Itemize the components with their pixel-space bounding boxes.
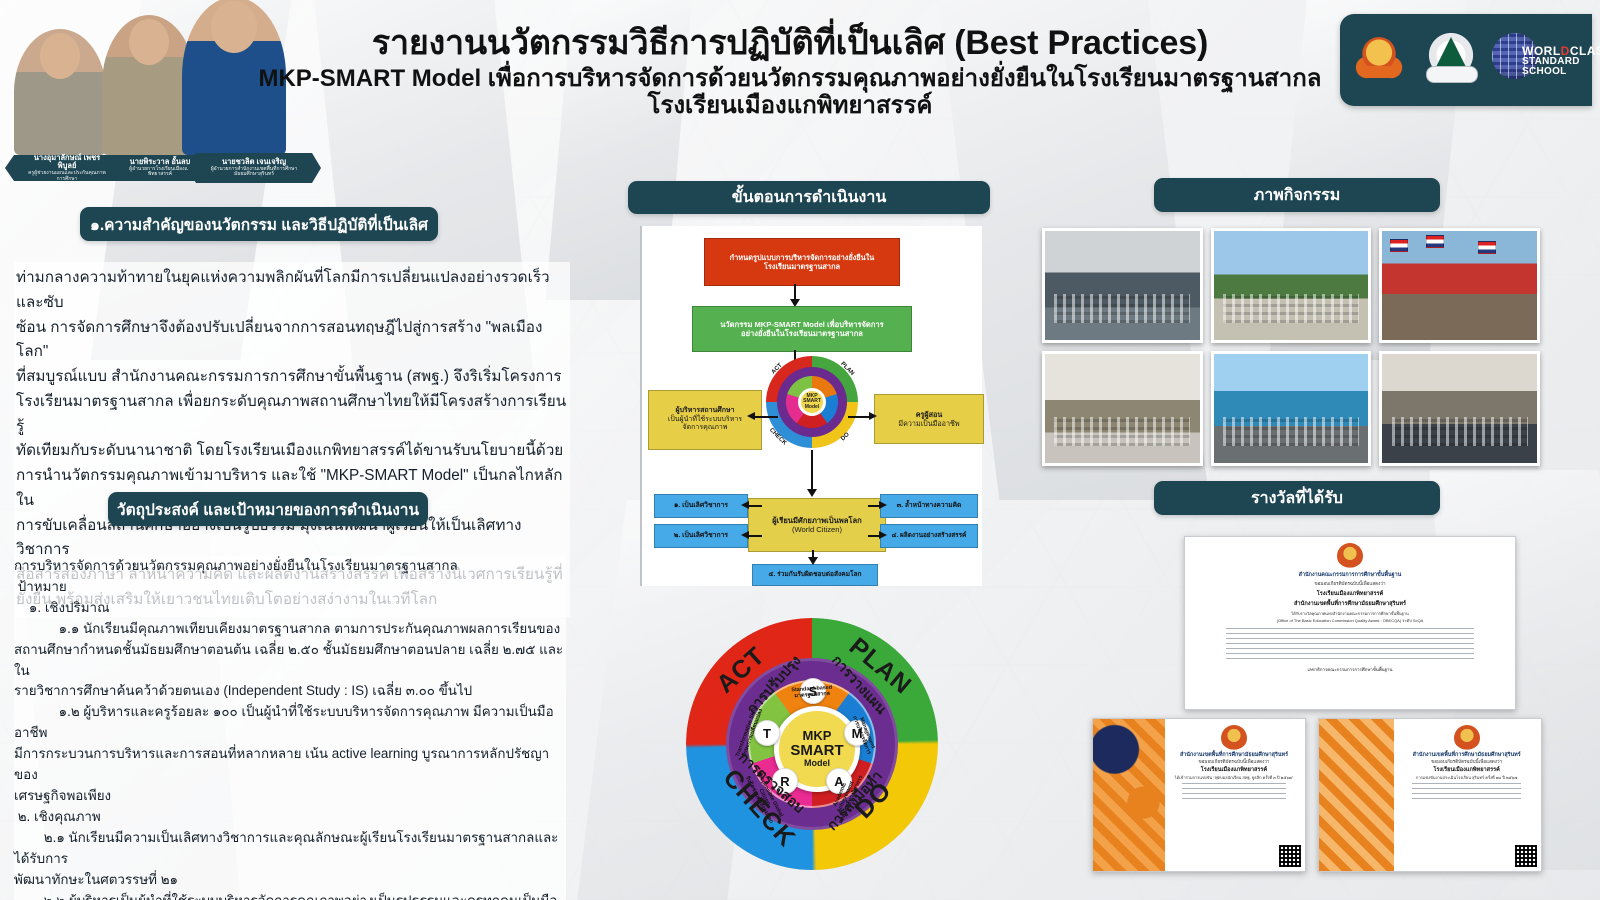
title-line-3: โรงเรียนเมืองแกพิทยาสรรค์	[250, 93, 1330, 120]
box-detail: มีความเป็นมืออาชีพ	[898, 419, 959, 428]
flow-arrow-out-2	[748, 535, 762, 537]
portrait-role: ผู้อำนวยการโรงเรียนเมืองแกพิทยาสรรค์	[124, 167, 196, 179]
photo-crowd-texture	[1223, 417, 1359, 445]
logo-bar: WORLDCLASS STANDARD SCHOOL	[1340, 14, 1592, 106]
flow-box-teacher: ครูผู้สอน มีความเป็นมืออาชีพ	[874, 394, 984, 444]
thai-flag-icon	[1390, 239, 1408, 252]
activity-photo-grid	[1042, 228, 1540, 466]
title-line-1: รายงานนวัตกรรมวิธีการปฏิบัติที่เป็นเลิศ …	[250, 24, 1330, 62]
flow-outcome-4: ๔. ผลิตงานอย่างสร้างสรรค์	[880, 524, 978, 548]
flow-arrow-out-1	[748, 505, 762, 507]
box-title: ผู้บริหารสถานศึกษา	[675, 407, 734, 416]
flow-outcome-5: ๕. ร่วมกันรับผิดชอบต่อสังคมโลก	[752, 564, 878, 586]
poster-root: รายงานนวัตกรรมวิธีการปฏิบัติที่เป็นเลิศ …	[0, 0, 1600, 900]
core-model: Model	[805, 405, 819, 410]
qr-code-icon	[1279, 845, 1301, 867]
certificate-detail: ได้รับรางวัลคุณภาพแห่งสำนักงานคณะกรรมการ…	[1277, 610, 1424, 624]
flow-outcome-1: ๑. เป็นเลิศวิชาการ	[654, 494, 748, 518]
certificate-school: โรงเรียนเมืองแกพิทยาสรรค์	[1433, 766, 1499, 774]
section-2-heading: วัตถุประสงค์ และเป้าหมายของการดำเนินงาน	[108, 492, 428, 526]
certificate-org: สำนักงานเขตพื้นที่การศึกษามัธยมศึกษาสุริ…	[1180, 751, 1288, 759]
flow-box-define-model: กำหนดรูปแบบการบริหารจัดการอย่างยั่งยืนใน…	[704, 238, 900, 286]
photo-crowd-texture	[1054, 417, 1190, 445]
world-class-wordmark: WORLDCLASS STANDARD SCHOOL	[1522, 45, 1600, 77]
certificate-content: สำนักงานคณะกรรมการการศึกษาขั้นพื้นฐาน ขอ…	[1191, 543, 1509, 703]
flow-arrow-down-1	[794, 284, 796, 300]
box-detail: (World Citizen)	[792, 525, 842, 534]
section-1-heading: ๑.ความสำคัญของนวัตกรรม และวิธีปฏิบัติที่…	[80, 207, 438, 241]
section-2-body: การบริหารจัดการด้วยนวัตกรรมคุณภาพอย่างยั…	[14, 556, 566, 900]
core-model: Model	[804, 759, 830, 769]
garuda-emblem-icon	[1221, 725, 1247, 751]
portrait-head	[129, 19, 169, 65]
flow-box-mkp-smart-model: นวัตกรรม MKP-SMART Model เพื่อบริหารจัดก…	[692, 306, 912, 352]
certificate-school: โรงเรียนเมืองแกพิทยาสรรค์	[1317, 590, 1383, 598]
photo-assembly-antidrug	[1042, 228, 1203, 343]
portrait-1	[14, 29, 106, 155]
certificate-award-line: ขอมอบเกียรติบัตรฉบับนี้เพื่อแสดงว่า	[1314, 581, 1385, 588]
certificate-detail: ได้เข้าร่วมการแข่งขัน "ฟุตบอลนักเรียน สพ…	[1175, 774, 1294, 781]
poster-title: รายงานนวัตกรรมวิธีการปฏิบัติที่เป็นเลิศ …	[250, 24, 1330, 120]
flow-arrow-out-4	[868, 535, 880, 537]
certificate-body-lines	[1412, 783, 1521, 803]
flow-arrow-down-3	[811, 450, 813, 490]
title-line-2: MKP-SMART Model เพื่อการบริหารจัดการด้วย…	[250, 66, 1330, 93]
certificate-award-line: ขอมอบเกียรติบัตรฉบับนี้เพื่อแสดงว่า	[1198, 759, 1269, 766]
wordmark-standard-school: STANDARD SCHOOL	[1522, 57, 1600, 77]
flow-mini-pdca-wheel: MKP SMART Model ACT PLAN CHECK DO	[766, 356, 858, 448]
certificate-signer: เลขาธิการคณะกรรมการการศึกษาขั้นพื้นฐาน	[1307, 666, 1392, 673]
flow-arrow-out-5	[812, 550, 814, 558]
decorative-graphic-band	[1319, 719, 1394, 871]
flow-outcome-2: ๒. เป็นเลิศวิชาการ	[654, 524, 748, 548]
sports-graphic-band	[1093, 719, 1165, 871]
box-detail: เป็นผู้นำที่ใช้ระบบบริหาร จัดการคุณภาพ	[668, 416, 742, 434]
photo-crowd-texture	[1054, 294, 1190, 322]
photo-class-group-portrait	[1042, 351, 1203, 466]
flow-box-world-citizen: ผู้เรียนมีศักยภาพเป็นพลโลก (World Citize…	[748, 498, 886, 552]
certificate-body-lines	[1182, 783, 1286, 803]
photos-heading: ภาพกิจกรรม	[1154, 178, 1440, 212]
certificate-content: สำนักงานเขตพื้นที่การศึกษามัธยมศึกษาสุริ…	[1167, 725, 1301, 865]
thai-flag-icon	[1426, 235, 1444, 248]
photo-crowd-texture	[1223, 294, 1359, 322]
portrait-name: นางอุมาลักษณ์ เพชรพิบูลย์	[26, 154, 108, 171]
certificate-detail: การแข่งขันงานประเมินโรงเรียน สุรินทร์ คร…	[1416, 774, 1517, 781]
certificate-area: สำนักงานเขตพื้นที่การศึกษามัธยมศึกษาสุริ…	[1294, 600, 1406, 608]
flow-arrow-left	[754, 416, 778, 418]
flow-outcome-3: ๓. ล้ำหน้าทางความคิด	[880, 494, 978, 518]
garuda-emblem-icon	[1337, 543, 1363, 569]
flow-arrow-right	[848, 416, 870, 418]
photo-outdoor-campaign	[1211, 228, 1372, 343]
flowchart: กำหนดรูปแบบการบริหารจัดการอย่างยั่งยืนใน…	[640, 226, 982, 586]
certificate-award-line: ขอมอบเกียรติบัตรฉบับนี้เพื่อแสดงว่า	[1431, 759, 1502, 766]
flow-arrow-out-3	[868, 505, 880, 507]
qr-code-icon	[1515, 845, 1537, 867]
photo-community-event	[1211, 351, 1372, 466]
box-title: ครูผู้สอน	[916, 410, 943, 419]
school-emblem-logo	[1420, 29, 1482, 91]
world-class-standard-school-logo: WORLDCLASS STANDARD SCHOOL	[1492, 31, 1584, 89]
portrait-nameplate-3: นายชวลิต เจนเจริญ ผู้อำนวยการสำนักงานเขต…	[196, 153, 312, 183]
core-smart: SMART	[790, 743, 843, 759]
portrait-role: ผู้อำนวยการสำนักงานเขตพื้นที่การศึกษามัธ…	[208, 167, 300, 179]
certificate-content: สำนักงานเขตพื้นที่การศึกษามัธยมศึกษาสุริ…	[1397, 725, 1537, 865]
certificate-org: สำนักงานคณะกรรมการการศึกษาขั้นพื้นฐาน	[1299, 571, 1402, 579]
flowchart-heading: ขั้นตอนการดำเนินงาน	[628, 181, 990, 214]
certificate-school: โรงเรียนเมืองแกพิทยาสรรค์	[1201, 766, 1267, 774]
pdca-smart-wheel: MKP SMART Model S M A R T Standard-based…	[668, 612, 956, 884]
cert-obeccqa: สำนักงานคณะกรรมการการศึกษาขั้นพื้นฐาน ขอ…	[1184, 536, 1516, 710]
thai-flag-icon	[1478, 241, 1496, 254]
flow-box-school-administrator: ผู้บริหารสถานศึกษา เป็นผู้นำที่ใช้ระบบบร…	[648, 390, 762, 450]
certificate-body-lines	[1226, 628, 1474, 662]
photo-thai-flag-parade	[1379, 228, 1540, 343]
core-mkp: MKP	[803, 729, 832, 743]
portrait-head	[40, 33, 80, 79]
cert-sports-award: สำนักงานเขตพื้นที่การศึกษามัธยมศึกษาสุริ…	[1092, 718, 1306, 872]
photo-auditorium-ceremony	[1379, 351, 1540, 466]
mkp-smart-core: MKP SMART Model	[798, 388, 826, 416]
portrait-role: ครูผู้ช่วยงานแผนและประกันคุณภาพการศึกษา	[26, 171, 108, 183]
garuda-emblem-icon	[1454, 725, 1480, 751]
photo-crowd-texture	[1392, 417, 1528, 445]
garuda-royal-emblem-logo	[1348, 29, 1410, 91]
cert-education-award: สำนักงานเขตพื้นที่การศึกษามัธยมศึกษาสุริ…	[1318, 718, 1542, 872]
awards-heading: รางวัลที่ได้รับ	[1154, 481, 1440, 515]
box-title: ผู้เรียนมีศักยภาพเป็นพลโลก	[772, 516, 862, 525]
certificate-org: สำนักงานเขตพื้นที่การศึกษามัธยมศึกษาสุริ…	[1413, 751, 1521, 759]
